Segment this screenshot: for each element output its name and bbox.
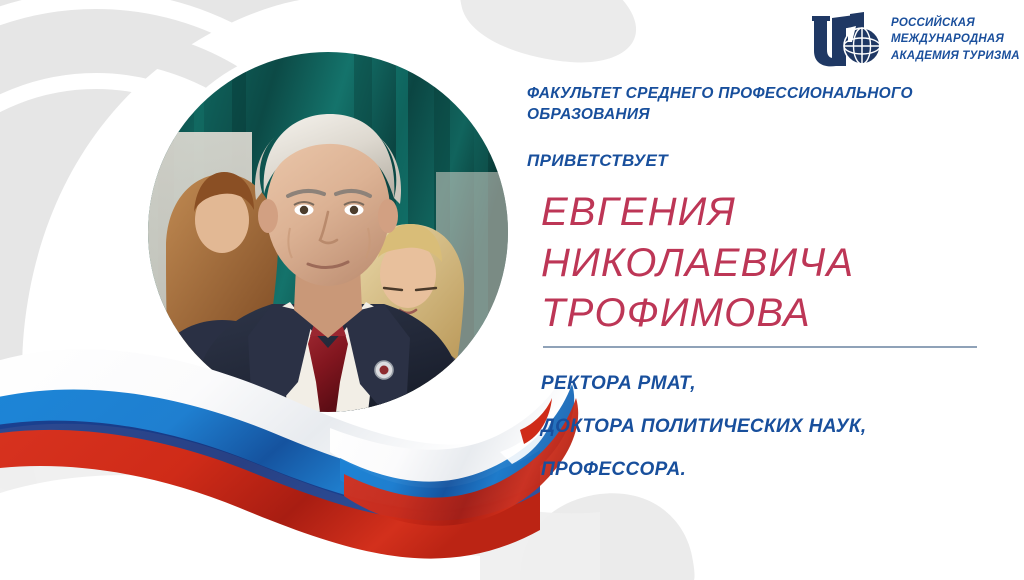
honoree-surname: ТРОФИМОВА <box>541 288 997 338</box>
rmat-logo-text: РОССИЙСКАЯ МЕЖДУНАРОДНАЯ АКАДЕМИЯ ТУРИЗМ… <box>891 16 1020 64</box>
honoree-patronymic: НИКОЛАЕВИЧА <box>541 238 997 288</box>
slide-canvas: РОССИЙСКАЯ МЕЖДУНАРОДНАЯ АКАДЕМИЯ ТУРИЗМ… <box>0 0 1024 580</box>
honoree-title-2: ДОКТОРА ПОЛИТИЧЕСКИХ НАУК, <box>541 417 997 436</box>
rmat-logo[interactable]: РОССИЙСКАЯ МЕЖДУНАРОДНАЯ АКАДЕМИЯ ТУРИЗМ… <box>806 8 1020 72</box>
honoree-photo-artwork <box>148 52 508 412</box>
honoree-photo <box>148 52 508 412</box>
faculty-line-2: ОБРАЗОВАНИЯ <box>527 106 650 123</box>
rmat-monogram-globe-icon <box>806 8 882 72</box>
logo-line-3: АКАДЕМИЯ ТУРИЗМА <box>891 49 1020 64</box>
honoree-first-name: ЕВГЕНИЯ <box>541 187 997 237</box>
honoree-title-3: ПРОФЕССОРА. <box>541 460 997 479</box>
honoree-name: ЕВГЕНИЯ НИКОЛАЕВИЧА ТРОФИМОВА <box>541 187 997 338</box>
announcement-text: ФАКУЛЬТЕТ СРЕДНЕГО ПРОФЕССИОНАЛЬНОГО ОБР… <box>527 84 997 479</box>
faculty-line-1: ФАКУЛЬТЕТ СРЕДНЕГО ПРОФЕССИОНАЛЬНОГО <box>527 85 913 102</box>
greeting-word: ПРИВЕТСТВУЕТ <box>527 151 997 171</box>
logo-line-1: РОССИЙСКАЯ <box>891 16 1020 31</box>
faculty-heading: ФАКУЛЬТЕТ СРЕДНЕГО ПРОФЕССИОНАЛЬНОГО ОБР… <box>527 84 997 125</box>
honoree-title-1: РЕКТОРА РМАТ, <box>541 374 997 393</box>
logo-line-2: МЕЖДУНАРОДНАЯ <box>891 32 1020 47</box>
name-divider <box>543 346 977 348</box>
honoree-titles: РЕКТОРА РМАТ, ДОКТОРА ПОЛИТИЧЕСКИХ НАУК,… <box>541 374 997 479</box>
